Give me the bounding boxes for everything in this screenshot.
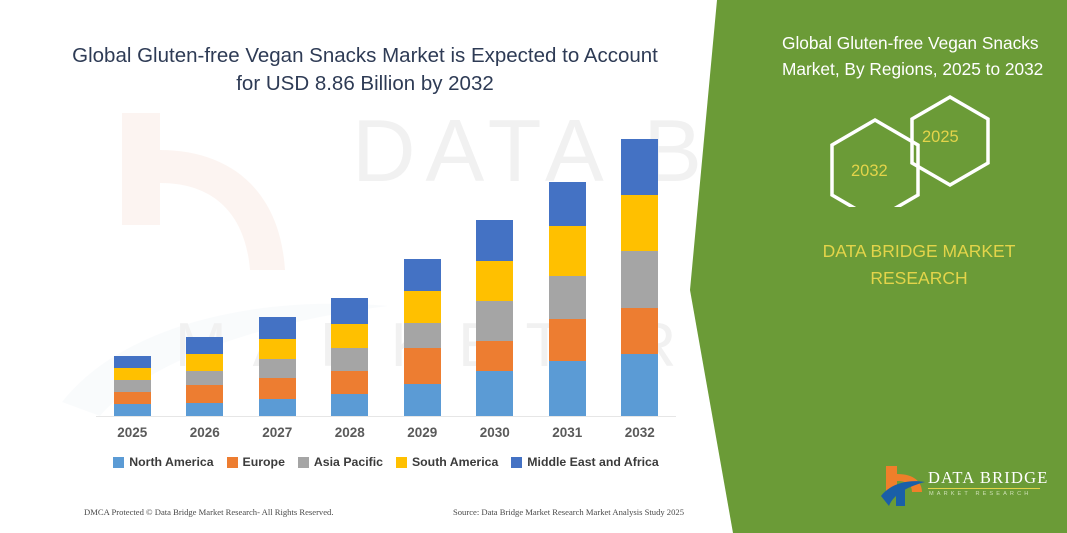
- stacked-bar[interactable]: [476, 220, 513, 416]
- x-axis-label-2028: 2028: [314, 425, 387, 440]
- bar-segment[interactable]: [259, 317, 296, 339]
- bar-column-2029[interactable]: [386, 121, 459, 416]
- hexagon-shapes-icon: [820, 92, 1010, 207]
- legend-label: North America: [129, 455, 213, 469]
- legend-item[interactable]: Middle East and Africa: [511, 455, 658, 469]
- x-axis-label-2026: 2026: [169, 425, 242, 440]
- bar-segment[interactable]: [186, 371, 223, 385]
- legend-label: Asia Pacific: [314, 455, 383, 469]
- bar-segment[interactable]: [331, 371, 368, 394]
- page-title: Global Gluten-free Vegan Snacks Market i…: [60, 42, 670, 98]
- stacked-bar[interactable]: [404, 259, 441, 416]
- bar-column-2032[interactable]: [604, 121, 677, 416]
- bar-segment[interactable]: [331, 298, 368, 324]
- bar-segment[interactable]: [404, 323, 441, 348]
- bar-segment[interactable]: [114, 392, 151, 404]
- x-axis-label-2032: 2032: [604, 425, 677, 440]
- chart-legend: North AmericaEuropeAsia PacificSouth Ame…: [96, 455, 676, 469]
- stacked-bar[interactable]: [259, 317, 296, 416]
- chart-x-axis-labels: 20252026202720282029203020312032: [96, 425, 676, 440]
- year-hexagons: 2025 2032: [820, 92, 1010, 207]
- stacked-bar[interactable]: [331, 298, 368, 416]
- bar-segment[interactable]: [476, 261, 513, 301]
- bar-segment[interactable]: [114, 404, 151, 416]
- bar-segment[interactable]: [621, 251, 658, 308]
- data-bridge-logo: DATA BRIDGE MARKET RESEARCH: [880, 462, 1050, 514]
- x-axis-label-2025: 2025: [96, 425, 169, 440]
- bar-segment[interactable]: [621, 308, 658, 354]
- stacked-bar[interactable]: [549, 182, 586, 416]
- stacked-bar-chart: [96, 120, 676, 416]
- legend-label: Middle East and Africa: [527, 455, 658, 469]
- bar-segment[interactable]: [331, 394, 368, 416]
- bar-segment[interactable]: [404, 384, 441, 416]
- bar-column-2031[interactable]: [531, 121, 604, 416]
- bar-segment[interactable]: [549, 361, 586, 416]
- bar-segment[interactable]: [476, 301, 513, 341]
- stacked-bar[interactable]: [186, 337, 223, 416]
- legend-swatch-icon: [396, 457, 407, 468]
- logo-wordmark: DATA BRIDGE: [928, 468, 1049, 488]
- hexagon-label-start-year: 2025: [922, 128, 959, 147]
- legend-swatch-icon: [298, 457, 309, 468]
- brand-name: DATA BRIDGE MARKET RESEARCH: [790, 238, 1048, 292]
- stacked-bar[interactable]: [114, 356, 151, 416]
- bar-segment[interactable]: [114, 368, 151, 380]
- hexagon-label-end-year: 2032: [851, 162, 888, 181]
- legend-swatch-icon: [511, 457, 522, 468]
- x-axis-label-2030: 2030: [459, 425, 532, 440]
- bar-segment[interactable]: [186, 385, 223, 403]
- bar-segment[interactable]: [476, 341, 513, 371]
- bar-segment[interactable]: [331, 348, 368, 371]
- legend-item[interactable]: North America: [113, 455, 213, 469]
- legend-label: South America: [412, 455, 498, 469]
- bar-segment[interactable]: [259, 359, 296, 378]
- footer: DMCA Protected © Data Bridge Market Rese…: [84, 507, 684, 517]
- logo-subtitle: MARKET RESEARCH: [929, 491, 1031, 497]
- infographic-root: DATA BRIDGE MARKET RESEARCH Global Glute…: [0, 0, 1067, 533]
- bar-column-2030[interactable]: [459, 121, 532, 416]
- bar-column-2025[interactable]: [96, 121, 169, 416]
- bar-segment[interactable]: [404, 348, 441, 384]
- bar-segment[interactable]: [476, 220, 513, 261]
- logo-divider: [928, 488, 1040, 489]
- bar-segment[interactable]: [621, 139, 658, 195]
- bar-segment[interactable]: [549, 276, 586, 319]
- bar-column-2026[interactable]: [169, 121, 242, 416]
- x-axis-label-2031: 2031: [531, 425, 604, 440]
- footer-copyright: DMCA Protected © Data Bridge Market Rese…: [84, 507, 334, 517]
- bar-segment[interactable]: [259, 339, 296, 359]
- bar-segment[interactable]: [331, 324, 368, 348]
- x-axis-label-2029: 2029: [386, 425, 459, 440]
- legend-item[interactable]: South America: [396, 455, 498, 469]
- bar-segment[interactable]: [549, 226, 586, 276]
- bar-segment[interactable]: [259, 399, 296, 416]
- stacked-bar[interactable]: [621, 139, 658, 416]
- bar-column-2027[interactable]: [241, 121, 314, 416]
- green-panel-title: Global Gluten-free Vegan Snacks Market, …: [782, 30, 1054, 82]
- bar-segment[interactable]: [476, 371, 513, 416]
- bar-column-2028[interactable]: [314, 121, 387, 416]
- bar-segment[interactable]: [186, 337, 223, 354]
- bar-segment[interactable]: [404, 259, 441, 291]
- bar-segment[interactable]: [259, 378, 296, 399]
- legend-swatch-icon: [227, 457, 238, 468]
- bar-segment[interactable]: [549, 182, 586, 226]
- bar-segment[interactable]: [114, 380, 151, 392]
- footer-source: Source: Data Bridge Market Research Mark…: [453, 507, 684, 517]
- chart-x-axis: [96, 416, 676, 417]
- bar-segment[interactable]: [621, 354, 658, 416]
- bar-segment[interactable]: [621, 195, 658, 251]
- bar-segment[interactable]: [186, 354, 223, 371]
- legend-item[interactable]: Europe: [227, 455, 285, 469]
- legend-swatch-icon: [113, 457, 124, 468]
- bar-segment[interactable]: [404, 291, 441, 323]
- bar-segment[interactable]: [186, 403, 223, 416]
- bar-segment[interactable]: [114, 356, 151, 368]
- x-axis-label-2027: 2027: [241, 425, 314, 440]
- legend-item[interactable]: Asia Pacific: [298, 455, 383, 469]
- legend-label: Europe: [243, 455, 285, 469]
- bar-segment[interactable]: [549, 319, 586, 361]
- chart-plot-area: [96, 121, 676, 416]
- logo-mark-icon: [880, 462, 926, 510]
